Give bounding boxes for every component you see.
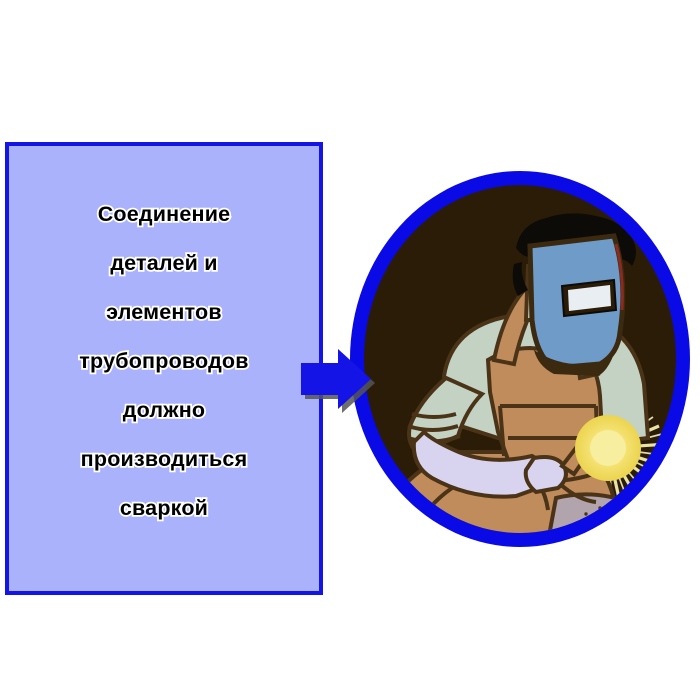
callout-line-7: сваркой [9, 484, 319, 533]
slide-canvas: Соединение деталей и элементов трубопров… [0, 0, 700, 700]
right-arrow-shape [301, 349, 371, 409]
callout-line-5: должно [9, 386, 319, 435]
callout-line-2: деталей и [9, 239, 319, 288]
welder-glove-hand [526, 457, 566, 492]
callout-line-3: элементов [9, 288, 319, 337]
text-callout-box: Соединение деталей и элементов трубопров… [5, 142, 323, 595]
callout-text: Соединение деталей и элементов трубопров… [9, 190, 319, 533]
callout-line-1: Соединение [9, 190, 319, 239]
callout-line-4: трубопроводов [9, 337, 319, 386]
weld-spark-hot [590, 430, 626, 466]
right-arrow [298, 342, 376, 418]
callout-line-6: производиться [9, 435, 319, 484]
welder-illustration [348, 170, 692, 552]
